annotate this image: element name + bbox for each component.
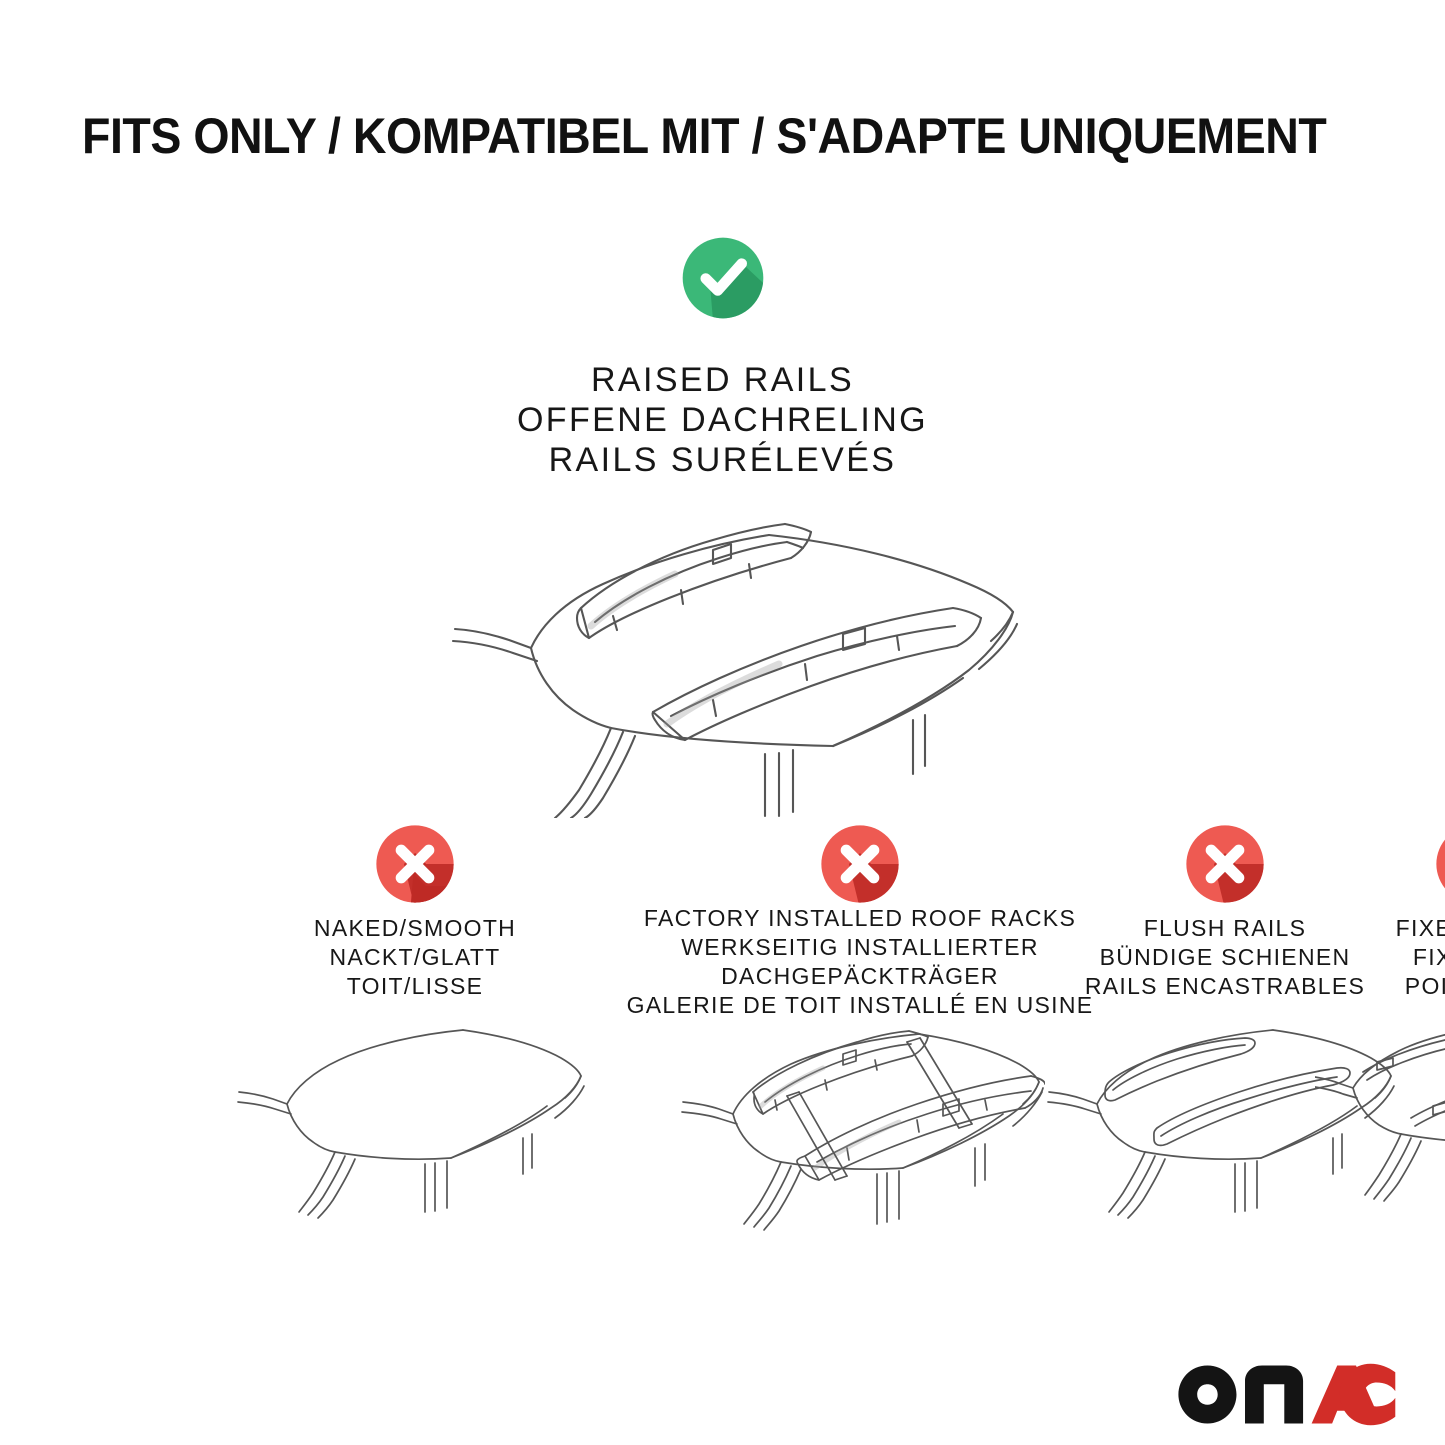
omac-logo: OMAC: [1175, 1361, 1397, 1427]
cross-circle-icon: [1429, 818, 1445, 910]
cross-circle-icon: [814, 818, 906, 910]
cross-circle-icon: [1179, 818, 1271, 910]
compatible-line-fr: RAILS SURÉLEVÉS: [273, 440, 1173, 480]
car-roof-raised-rails-illustration: [413, 498, 1033, 818]
caption-line-de: NACKT/GLATT: [314, 943, 516, 972]
incompatible-caption: NAKED/SMOOTH NACKT/GLATT TOIT/LISSE: [314, 914, 516, 1001]
caption-line-de: FIXPUNKT: [1396, 943, 1445, 972]
caption-line-fr: TOIT/LISSE: [314, 972, 516, 1001]
caption-line-fr: RAILS ENCASTRABLES: [1085, 972, 1365, 1001]
compatible-line-de: OFFENE DACHRELING: [273, 400, 1173, 440]
caption-line-en: FACTORY INSTALLED ROOF RACKS: [627, 904, 1094, 933]
compatible-line-en: RAISED RAILS: [273, 360, 1173, 400]
compatible-caption: RAISED RAILS OFFENE DACHRELING RAILS SUR…: [273, 360, 1173, 480]
cross-circle-icon: [369, 818, 461, 910]
incompatible-caption: FIXED POINT FIXPUNKT POINT FIXE: [1396, 914, 1445, 1001]
incompatible-caption: FLUSH RAILS BÜNDIGE SCHIENEN RAILS ENCAS…: [1085, 914, 1365, 1001]
caption-line-en: FLUSH RAILS: [1085, 914, 1365, 943]
caption-line-en: NAKED/SMOOTH: [314, 914, 516, 943]
page-title: FITS ONLY / KOMPATIBEL MIT / S'ADAPTE UN…: [82, 108, 1282, 164]
check-circle-icon: [675, 230, 771, 326]
compatibility-infographic: FITS ONLY / KOMPATIBEL MIT / S'ADAPTE UN…: [0, 0, 1445, 1445]
car-roof-naked-smooth-illustration: [235, 1016, 595, 1251]
caption-line-de: BÜNDIGE SCHIENEN: [1085, 943, 1365, 972]
incompatible-caption: FACTORY INSTALLED ROOF RACKS WERKSEITIG …: [627, 904, 1094, 1020]
caption-line-fr: POINT FIXE: [1396, 972, 1445, 1001]
car-roof-fixed-point-illustration: [1315, 1016, 1445, 1251]
caption-line-de-1: WERKSEITIG INSTALLIERTER: [627, 933, 1094, 962]
car-roof-factory-roof-racks-illustration: [675, 1016, 1045, 1261]
caption-line-de-2: DACHGEPÄCKTRÄGER: [627, 962, 1094, 991]
caption-line-en: FIXED POINT: [1396, 914, 1445, 943]
